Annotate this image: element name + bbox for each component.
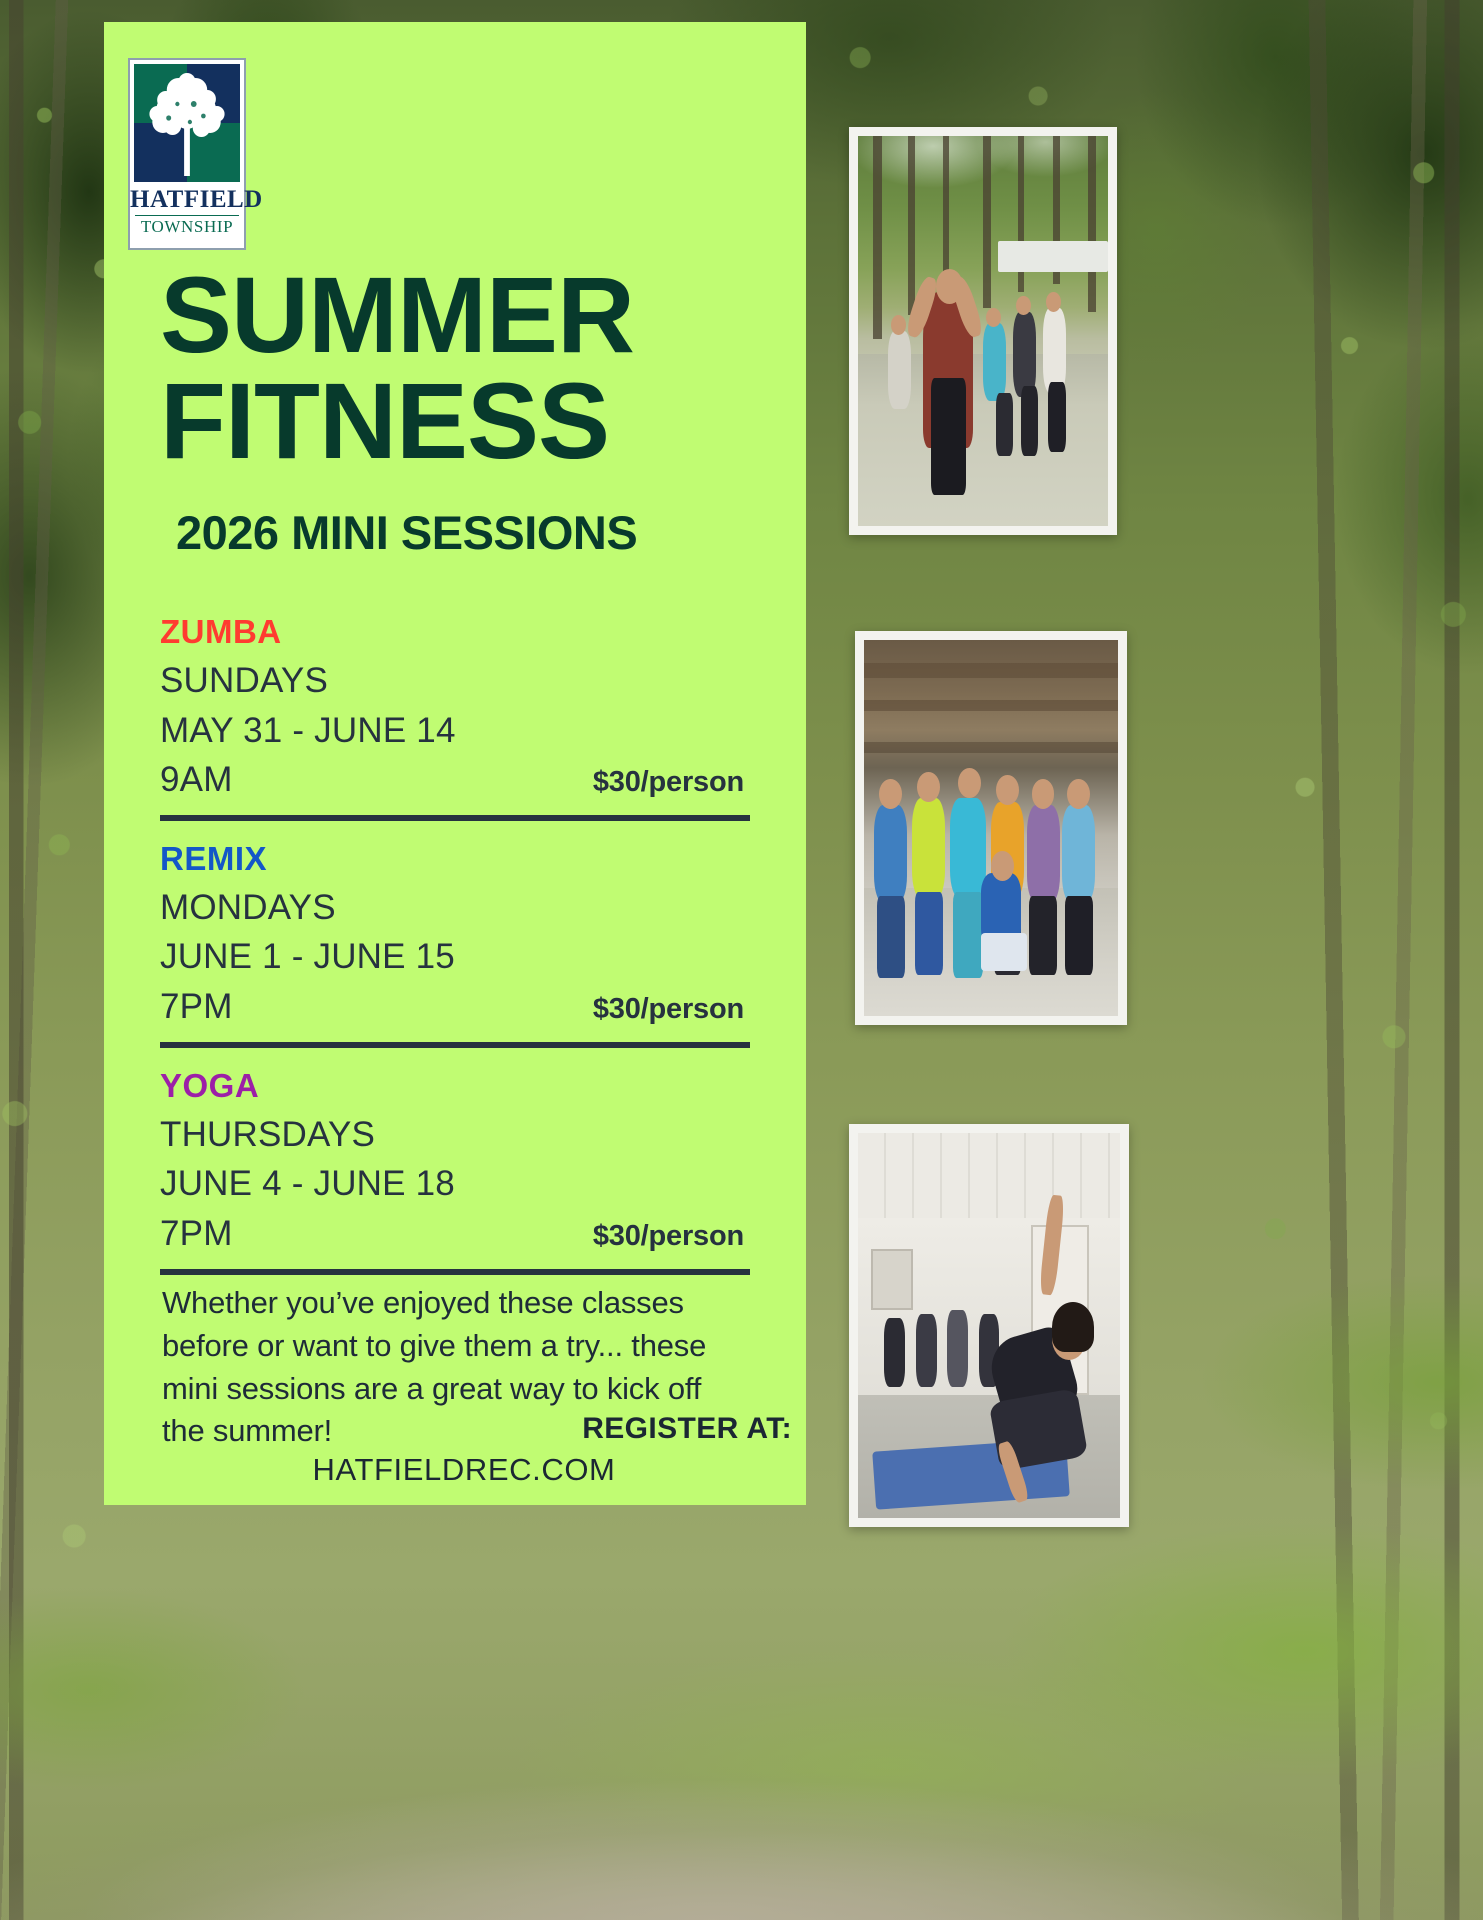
class-day: SUNDAYS bbox=[160, 656, 750, 706]
outdoor-fitness-class-photo bbox=[849, 127, 1117, 535]
class-price: $30/person bbox=[593, 766, 750, 799]
section-divider bbox=[160, 1269, 750, 1275]
class-time: 7PM bbox=[160, 982, 233, 1032]
class-block-remix: REMIX MONDAYS JUNE 1 - JUNE 15 7PM $30/p… bbox=[160, 835, 750, 1032]
class-time-price-row: 9AM $30/person bbox=[160, 755, 750, 805]
class-time: 7PM bbox=[160, 1209, 233, 1259]
group-portrait-pavilion-photo bbox=[855, 631, 1127, 1025]
class-price: $30/person bbox=[593, 993, 750, 1026]
page-title: SUMMER FITNESS bbox=[160, 262, 760, 474]
logo-name-line1: HATFIELD bbox=[130, 187, 244, 212]
class-day: MONDAYS bbox=[160, 883, 750, 933]
hatfield-township-logo: HATFIELD TOWNSHIP bbox=[128, 58, 246, 250]
class-time-price-row: 7PM $30/person bbox=[160, 1209, 750, 1259]
title-line-1: SUMMER bbox=[160, 262, 760, 368]
class-name: ZUMBA bbox=[160, 608, 750, 656]
class-dates: JUNE 1 - JUNE 15 bbox=[160, 932, 750, 982]
class-block-zumba: ZUMBA SUNDAYS MAY 31 - JUNE 14 9AM $30/p… bbox=[160, 608, 750, 805]
class-time: 9AM bbox=[160, 755, 233, 805]
class-price: $30/person bbox=[593, 1220, 750, 1253]
class-dates: MAY 31 - JUNE 14 bbox=[160, 706, 750, 756]
section-divider bbox=[160, 815, 750, 821]
logo-name-line2: TOWNSHIP bbox=[130, 218, 244, 235]
page-subtitle: 2026 MINI SESSIONS bbox=[176, 505, 637, 560]
class-name: REMIX bbox=[160, 835, 750, 883]
class-name: YOGA bbox=[160, 1062, 750, 1110]
section-divider bbox=[160, 1042, 750, 1048]
class-day: THURSDAYS bbox=[160, 1110, 750, 1160]
class-dates: JUNE 4 - JUNE 18 bbox=[160, 1159, 750, 1209]
register-label: REGISTER AT: bbox=[162, 1412, 792, 1446]
logo-tree-mark bbox=[134, 64, 240, 182]
tree-icon bbox=[134, 64, 240, 182]
class-schedule-list: ZUMBA SUNDAYS MAY 31 - JUNE 14 9AM $30/p… bbox=[160, 608, 750, 1289]
register-url[interactable]: HATFIELDREC.COM bbox=[162, 1452, 792, 1488]
logo-divider bbox=[135, 215, 239, 216]
register-block: REGISTER AT: HATFIELDREC.COM bbox=[162, 1412, 792, 1488]
class-block-yoga: YOGA THURSDAYS JUNE 4 - JUNE 18 7PM $30/… bbox=[160, 1062, 750, 1259]
yoga-studio-photo bbox=[849, 1124, 1129, 1527]
class-time-price-row: 7PM $30/person bbox=[160, 982, 750, 1032]
title-line-2: FITNESS bbox=[160, 368, 760, 474]
